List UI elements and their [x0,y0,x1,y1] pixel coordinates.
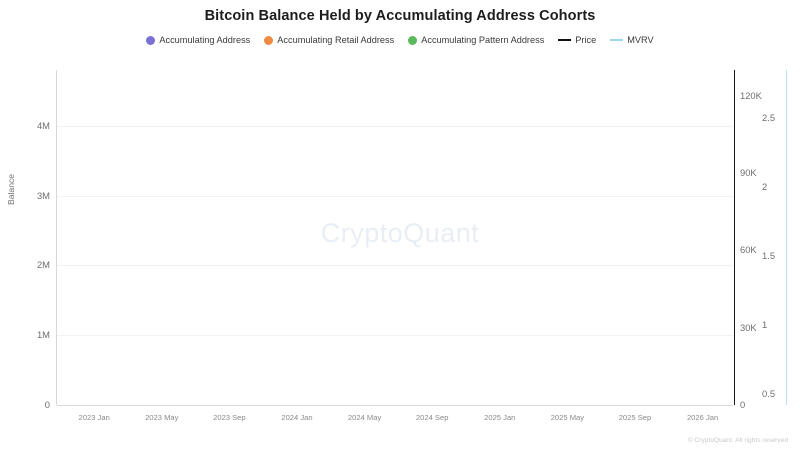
legend-swatch-dot-icon [264,36,273,45]
gridline-4 [57,126,733,127]
legend-item-accumulating-address[interactable]: Accumulating Address [146,35,250,45]
x-axis-tick-label: 2025 Jan [484,413,515,422]
axis-tick-label: 0.5 [762,388,796,399]
axis-tick-label: 1M [16,329,50,340]
legend-item-label: Accumulating Pattern Address [421,35,544,45]
copyright-footer: © CryptoQuant. All rights reserved [688,437,788,444]
x-axis-line [57,405,733,406]
axis-tick-label: 2M [16,259,50,270]
legend-swatch-line-icon [610,39,623,41]
axis-tick-label: 2.5 [762,112,796,123]
axis-tick-label: 120K [740,90,780,101]
axis-tick-label: 1.5 [762,250,796,261]
legend-swatch-dot-icon [408,36,417,45]
x-axis-tick-label: 2023 Jan [79,413,110,422]
legend-swatch-line-icon [558,39,571,41]
x-axis-tick-label: 2024 Jan [281,413,312,422]
y-axis-left-line [56,70,57,405]
gridline-2 [57,265,733,266]
legend-item-price[interactable]: Price [558,35,596,45]
chart-title: Bitcoin Balance Held by Accumulating Add… [0,8,800,24]
legend-item-label: Accumulating Address [159,35,250,45]
x-axis-tick-label: 2024 Sep [416,413,449,422]
axis-tick-label: 0 [740,399,780,410]
plot-area [57,70,733,405]
y-axis-price-line [734,70,735,405]
legend-item-label: MVRV [627,35,653,45]
axis-tick-label: 4M [16,120,50,131]
x-axis-tick-label: 2024 May [348,413,381,422]
axis-tick-label: 90K [740,167,780,178]
legend-item-mvrv[interactable]: MVRV [610,35,653,45]
legend-swatch-dot-icon [146,36,155,45]
y-axis-left-title: Balance [6,145,16,205]
legend-item-label: Accumulating Retail Address [277,35,394,45]
plot-background [57,70,733,405]
legend-item-accumulating-retail-address[interactable]: Accumulating Retail Address [264,35,394,45]
legend-item-label: Price [575,35,596,45]
legend-item-accumulating-pattern-address[interactable]: Accumulating Pattern Address [408,35,544,45]
x-axis-tick-label: 2025 Sep [619,413,652,422]
x-axis-tick-label: 2023 May [145,413,178,422]
chart-legend: Accumulating AddressAccumulating Retail … [0,35,800,45]
gridline-3 [57,196,733,197]
x-axis-tick-label: 2023 Sep [213,413,246,422]
axis-tick-label: 0 [16,399,50,410]
axis-tick-label: 3M [16,190,50,201]
x-axis-tick-label: 2025 May [551,413,584,422]
chart-container: Bitcoin Balance Held by Accumulating Add… [0,0,800,450]
axis-tick-label: 1 [762,319,796,330]
axis-tick-label: 2 [762,181,796,192]
gridline-1 [57,335,733,336]
x-axis-tick-label: 2026 Jan [687,413,718,422]
